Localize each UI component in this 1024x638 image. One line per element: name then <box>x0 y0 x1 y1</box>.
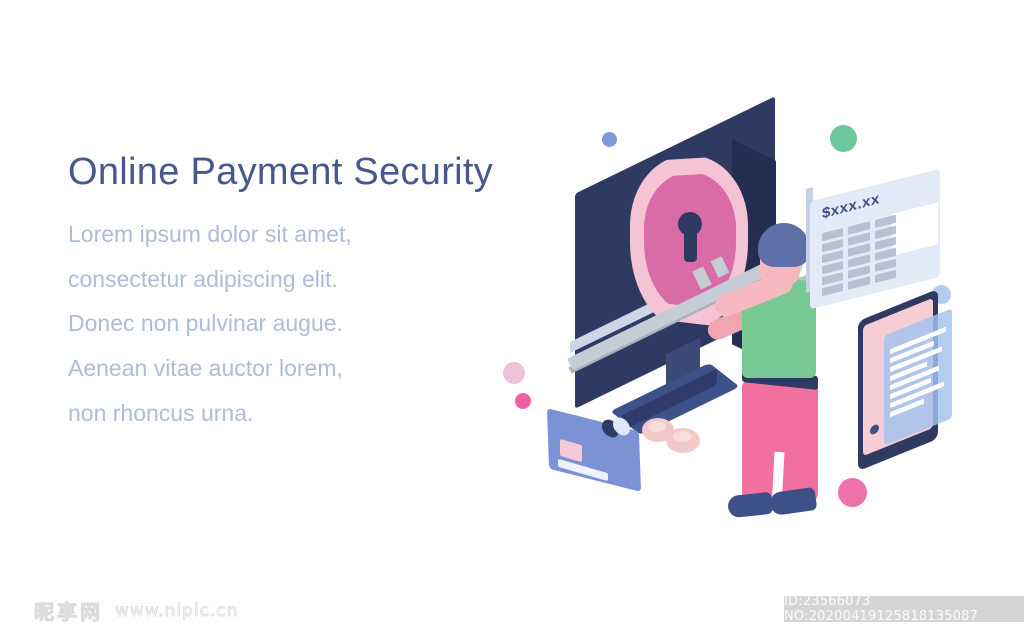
illustration-banner: Online Payment Security Lorem ipsum dolo… <box>0 0 1024 638</box>
watermark-url: www.nipic.cn <box>115 601 238 621</box>
coin-highlight <box>648 421 666 432</box>
watermark: 昵享网 www.nipic.cn <box>34 596 238 625</box>
keyhole-stem <box>684 228 697 262</box>
dot-pink-light-icon <box>503 362 525 384</box>
payment-security-illustration: $xxx.xx <box>470 90 1024 550</box>
dot-pink-mid-icon <box>515 393 531 409</box>
watermark-logo: 昵享网 <box>34 596 103 625</box>
person-hair <box>758 223 810 267</box>
footer-id-text: ID:23566073 NO:20200419125818135087 <box>784 594 1024 624</box>
dot-pink-large-icon <box>838 478 867 507</box>
dot-green-icon <box>830 125 857 152</box>
person-shoe-left <box>727 492 773 518</box>
coin-highlight <box>673 431 692 442</box>
dot-blue-small-icon <box>602 132 617 147</box>
footer-id-bar: ID:23566073 NO:20200419125818135087 <box>784 596 1024 622</box>
